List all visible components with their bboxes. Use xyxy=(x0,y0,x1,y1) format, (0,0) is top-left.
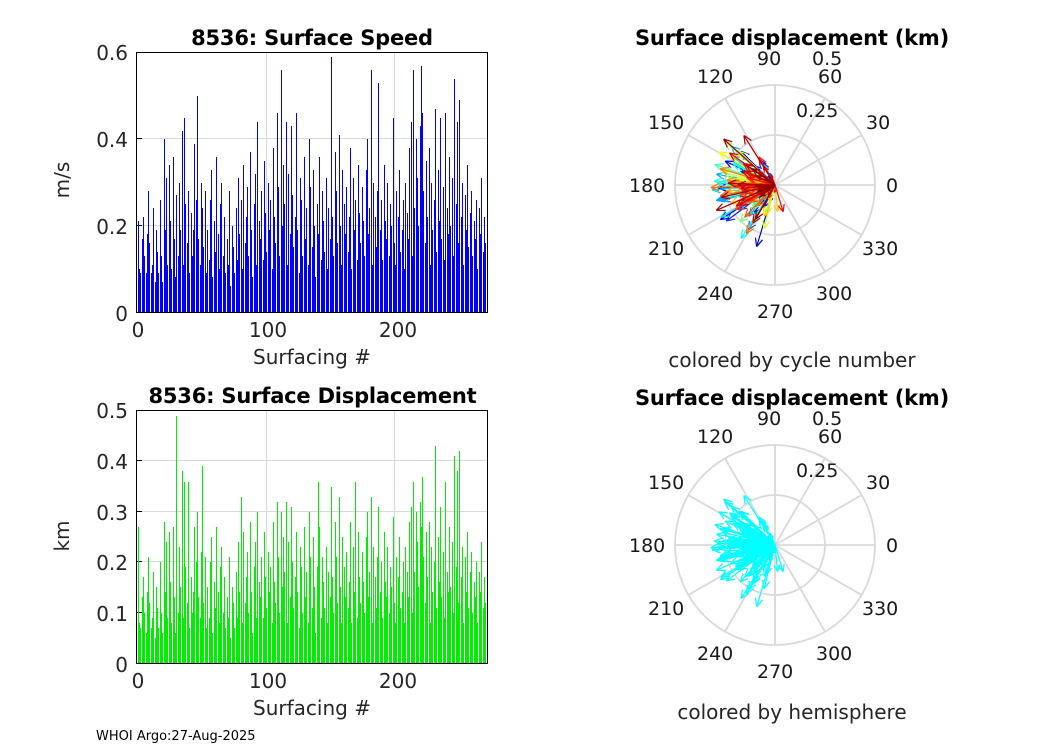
polar-hemisphere-angle-300: 300 xyxy=(816,643,852,665)
tickmark-y xyxy=(137,138,142,139)
polar-hemisphere-angle-270: 270 xyxy=(757,661,793,683)
speed-ytick-0_6: 0.6 xyxy=(94,41,128,65)
speed-xtick-200: 200 xyxy=(378,318,418,342)
tickmark-y xyxy=(137,52,142,53)
polar-cycle-angle-120: 120 xyxy=(697,66,733,88)
polar-cycle-angle-270: 270 xyxy=(757,301,793,323)
polar-hemisphere-caption: colored by hemisphere xyxy=(592,700,992,724)
polar-cycle-angle-90: 90 xyxy=(757,48,781,70)
polar-hemisphere-plot-area xyxy=(660,430,890,660)
bar xyxy=(487,226,488,312)
polar-cycle-radial-0_5: 0.5 xyxy=(812,48,842,70)
polar-hemisphere-angle-0: 0 xyxy=(886,535,898,557)
polar-cycle-radial-0_25: 0.25 xyxy=(796,100,838,122)
displacement-xtick-0: 0 xyxy=(118,669,158,693)
polar-cycle-caption: colored by cycle number xyxy=(592,348,992,372)
polar-hemisphere-radial-0_25: 0.25 xyxy=(796,460,838,482)
polar-hemisphere-angle-180: 180 xyxy=(629,535,665,557)
speed-ytick-0_2: 0.2 xyxy=(94,215,128,239)
speed-ytick-0_4: 0.4 xyxy=(94,128,128,152)
figure-canvas: 8536: Surface Speed 0.6 0.4 0.2 0 0 100 … xyxy=(0,0,1050,750)
speed-xtick-100: 100 xyxy=(248,318,288,342)
polar-hemisphere-angle-210: 210 xyxy=(648,598,684,620)
polar-hemisphere-svg xyxy=(660,430,890,660)
speed-xtick-0: 0 xyxy=(118,318,158,342)
polar-cycle-angle-210: 210 xyxy=(648,238,684,260)
polar-cycle-plot-area xyxy=(660,70,890,300)
displacement-ytick-0_1: 0.1 xyxy=(84,602,128,626)
polar-hemisphere-angle-240: 240 xyxy=(697,643,733,665)
gridline-horizontal xyxy=(137,410,487,411)
polar-hemisphere-angle-30: 30 xyxy=(866,472,890,494)
displacement-ytick-0_5: 0.5 xyxy=(84,399,128,423)
gridline-horizontal xyxy=(137,52,487,53)
provenance-footer: WHOI Argo:27-Aug-2025 xyxy=(96,729,256,744)
tickmark-y xyxy=(137,410,142,411)
displacement-ytick-0_3: 0.3 xyxy=(84,501,128,525)
displacement-ytick-0_2: 0.2 xyxy=(84,551,128,575)
displacement-xaxis-label: Surfacing # xyxy=(136,696,488,720)
polar-cycle-angle-180: 180 xyxy=(629,175,665,197)
speed-chart-title: 8536: Surface Speed xyxy=(136,26,488,50)
displacement-chart-plot-area xyxy=(136,410,488,664)
bar xyxy=(487,582,488,663)
polar-cycle-angle-240: 240 xyxy=(697,283,733,305)
polar-cycle-angle-0: 0 xyxy=(886,175,898,197)
polar-cycle-angle-330: 330 xyxy=(862,238,898,260)
polar-hemisphere-radial-0_5: 0.5 xyxy=(812,408,842,430)
tickmark-y xyxy=(137,511,142,512)
displacement-xtick-200: 200 xyxy=(378,669,418,693)
polar-cycle-title: Surface displacement (km) xyxy=(592,26,992,50)
speed-yaxis-label: m/s xyxy=(50,140,74,220)
displacement-xtick-100: 100 xyxy=(248,669,288,693)
displacement-ytick-0_4: 0.4 xyxy=(84,450,128,474)
speed-xaxis-label: Surfacing # xyxy=(136,345,488,369)
polar-cycle-angle-150: 150 xyxy=(648,112,684,134)
polar-hemisphere-angle-150: 150 xyxy=(648,472,684,494)
displacement-yaxis-label: km xyxy=(50,506,74,566)
polar-hemisphere-angle-330: 330 xyxy=(862,598,898,620)
polar-cycle-angle-30: 30 xyxy=(866,112,890,134)
tickmark-y xyxy=(137,460,142,461)
polar-cycle-svg xyxy=(660,70,890,300)
polar-cycle-angle-300: 300 xyxy=(816,283,852,305)
polar-hemisphere-title: Surface displacement (km) xyxy=(592,386,992,410)
speed-chart-plot-area xyxy=(136,52,488,313)
polar-hemisphere-angle-90: 90 xyxy=(757,408,781,430)
polar-hemisphere-angle-120: 120 xyxy=(697,426,733,448)
displacement-chart-title: 8536: Surface Displacement xyxy=(120,384,505,408)
